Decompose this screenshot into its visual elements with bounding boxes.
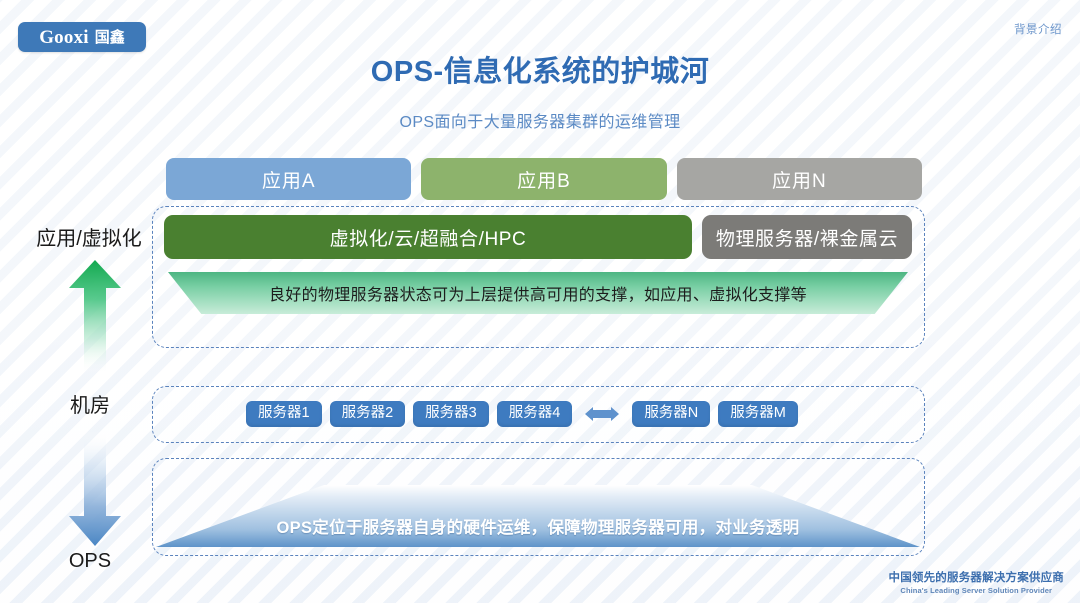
virtualization-box[interactable]: 虚拟化/云/超融合/HPC [164,215,692,259]
bidirectional-arrow-icon [584,404,620,424]
arrow-up-icon [62,258,128,373]
arrow-down-icon [62,430,128,548]
application-box-n[interactable]: 应用N [677,158,922,200]
ops-trapezoid-label: OPS定位于服务器自身的硬件运维，保障物理服务器可用，对业务透明 [277,514,800,538]
footer-text-en: China's Leading Server Solution Provider [889,586,1065,595]
server-chip-3[interactable]: 服务器3 [413,401,489,427]
server-chip-2[interactable]: 服务器2 [330,401,406,427]
axis-label-machine-room: 机房 [20,389,160,418]
logo-text-cn: 国鑫 [95,30,125,45]
section-tag: 背景介绍 [1014,21,1062,37]
support-trapezoid-label: 良好的物理服务器状态可为上层提供高可用的支撑，如应用、虚拟化支撑等 [269,281,807,305]
application-box-a[interactable]: 应用A [166,158,411,200]
axis-label-application: 应用/虚拟化 [14,222,164,251]
axis-label-ops: OPS [20,550,160,573]
server-chip-n[interactable]: 服务器N [632,401,710,427]
footer-branding: 中国领先的服务器解决方案供应商 China's Leading Server S… [889,571,1065,595]
page-title: OPS-信息化系统的护城河 [0,48,1080,90]
slide-canvas: Gooxi 国鑫 背景介绍 OPS-信息化系统的护城河 OPS面向于大量服务器集… [0,0,1080,603]
server-chip-m[interactable]: 服务器M [718,401,798,427]
footer-text-cn: 中国领先的服务器解决方案供应商 [889,571,1065,585]
server-row: 服务器1 服务器2 服务器3 服务器4 服务器N 服务器M [246,400,798,428]
support-trapezoid: 良好的物理服务器状态可为上层提供高可用的支撑，如应用、虚拟化支撑等 [168,272,908,314]
application-box-b[interactable]: 应用B [421,158,666,200]
physical-server-box[interactable]: 物理服务器/裸金属云 [702,215,912,259]
logo-text-en: Gooxi [39,28,89,47]
server-chip-1[interactable]: 服务器1 [246,401,322,427]
page-subtitle: OPS面向于大量服务器集群的运维管理 [0,108,1080,132]
platform-row: 虚拟化/云/超融合/HPC 物理服务器/裸金属云 [164,215,912,259]
application-row: 应用A 应用B 应用N [166,158,922,200]
server-chip-4[interactable]: 服务器4 [497,401,573,427]
